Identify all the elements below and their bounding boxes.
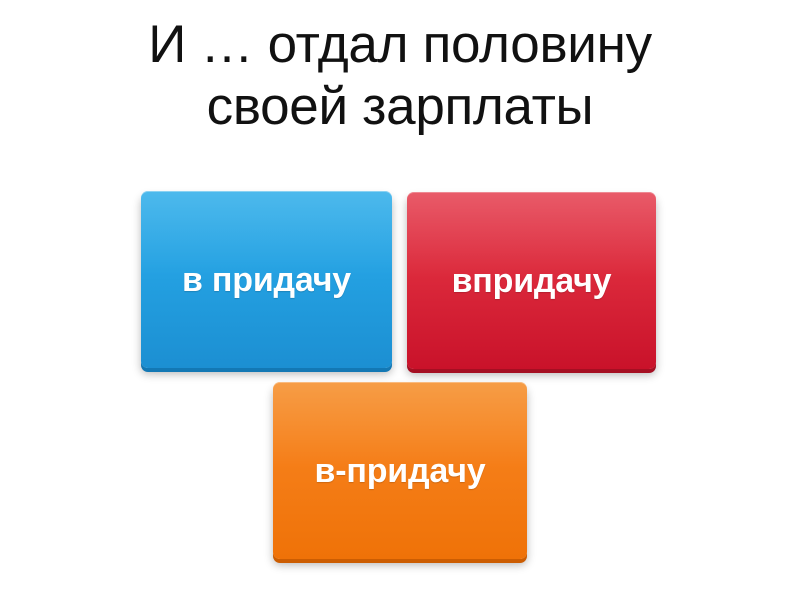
answer-option-red-label: впридачу — [452, 261, 612, 301]
answer-option-blue[interactable]: в придачу — [141, 191, 392, 368]
answer-option-red[interactable]: впридачу — [407, 192, 656, 369]
quiz-question-screen: И … отдал половину своей зарплаты в прид… — [0, 0, 800, 600]
answer-options-group: в придачу впридачу в-придачу — [0, 0, 800, 600]
answer-option-orange[interactable]: в-придачу — [273, 382, 527, 559]
answer-option-blue-label: в придачу — [182, 260, 351, 300]
answer-option-orange-label: в-придачу — [315, 451, 486, 491]
